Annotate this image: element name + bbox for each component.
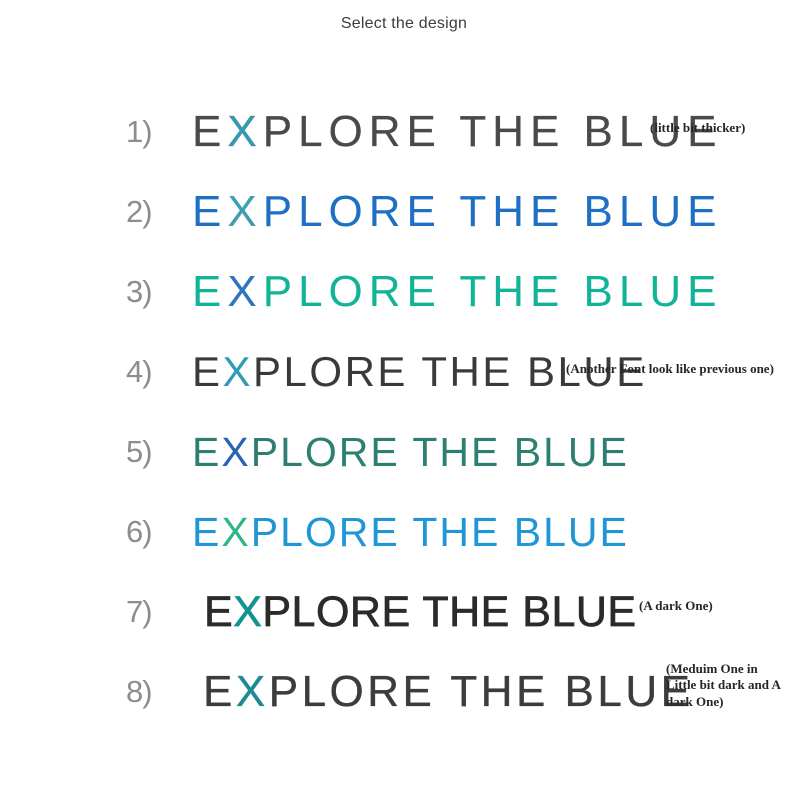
logo-suffix-8: PLORE THE BLUE: [269, 667, 694, 716]
logo-x-letter-5: X: [221, 429, 250, 475]
logo-prefix-8: E: [203, 667, 236, 716]
logo-x-letter-2: X: [227, 187, 262, 236]
design-option-2[interactable]: 2) EXPLORE THE BLUE: [0, 172, 808, 252]
logo-x-letter-3: X: [227, 267, 262, 316]
option-number-5: 5): [126, 434, 166, 470]
logo-prefix-2: E: [192, 187, 227, 236]
logo-x-letter-4: X: [223, 348, 254, 395]
option-number-6: 6): [126, 514, 166, 550]
design-options-list: 1) EXPLORE THE BLUE (little bit thicker)…: [0, 92, 808, 732]
option-number-3: 3): [126, 274, 166, 310]
design-option-7[interactable]: 7) EXPLORE THE BLUE (A dark One): [0, 572, 808, 652]
logo-prefix-5: E: [192, 429, 221, 475]
design-option-5[interactable]: 5) EXPLORE THE BLUE: [0, 412, 808, 492]
design-option-3[interactable]: 3) EXPLORE THE BLUE: [0, 252, 808, 332]
logo-prefix-4: E: [192, 348, 223, 395]
option-number-4: 4): [126, 354, 166, 390]
annotation-8: (Meduim One in Little bit dark and A dar…: [666, 661, 781, 710]
logo-suffix-6: PLORE THE BLUE: [251, 509, 629, 555]
design-option-4[interactable]: 4) EXPLORE THE BLUE (Another Font look l…: [0, 332, 808, 412]
logo-x-letter-7: X: [233, 588, 262, 636]
logo-text-3[interactable]: EXPLORE THE BLUE: [192, 270, 722, 314]
logo-suffix-5: PLORE THE BLUE: [251, 429, 629, 475]
logo-text-5[interactable]: EXPLORE THE BLUE: [192, 432, 629, 473]
logo-text-2[interactable]: EXPLORE THE BLUE: [192, 190, 722, 234]
logo-x-letter-1: X: [227, 107, 262, 156]
logo-suffix-3: PLORE THE BLUE: [263, 267, 723, 316]
logo-prefix-7: E: [204, 588, 233, 636]
logo-text-8[interactable]: EXPLORE THE BLUE: [203, 670, 693, 714]
logo-x-letter-8: X: [236, 667, 269, 716]
logo-prefix-1: E: [192, 107, 227, 156]
page-title: Select the design: [0, 15, 808, 33]
annotation-7: (A dark One): [639, 598, 713, 614]
option-number-1: 1): [126, 114, 166, 150]
design-option-8[interactable]: 8) EXPLORE THE BLUE (Meduim One in Littl…: [0, 652, 808, 732]
design-option-1[interactable]: 1) EXPLORE THE BLUE (little bit thicker): [0, 92, 808, 172]
logo-suffix-7: PLORE THE BLUE: [262, 588, 636, 636]
logo-prefix-6: E: [192, 509, 221, 555]
design-option-6[interactable]: 6) EXPLORE THE BLUE: [0, 492, 808, 572]
logo-suffix-2: PLORE THE BLUE: [263, 187, 723, 236]
option-number-7: 7): [126, 594, 166, 630]
option-number-8: 8): [126, 674, 166, 710]
annotation-1: (little bit thicker): [650, 120, 745, 136]
logo-text-1[interactable]: EXPLORE THE BLUE: [192, 110, 722, 154]
option-number-2: 2): [126, 194, 166, 230]
annotation-4: (Another Font look like previous one): [566, 361, 774, 377]
logo-prefix-3: E: [192, 267, 227, 316]
logo-text-7[interactable]: EXPLORE THE BLUE: [204, 591, 637, 634]
logo-x-letter-6: X: [221, 509, 250, 555]
logo-text-6[interactable]: EXPLORE THE BLUE: [192, 512, 629, 553]
